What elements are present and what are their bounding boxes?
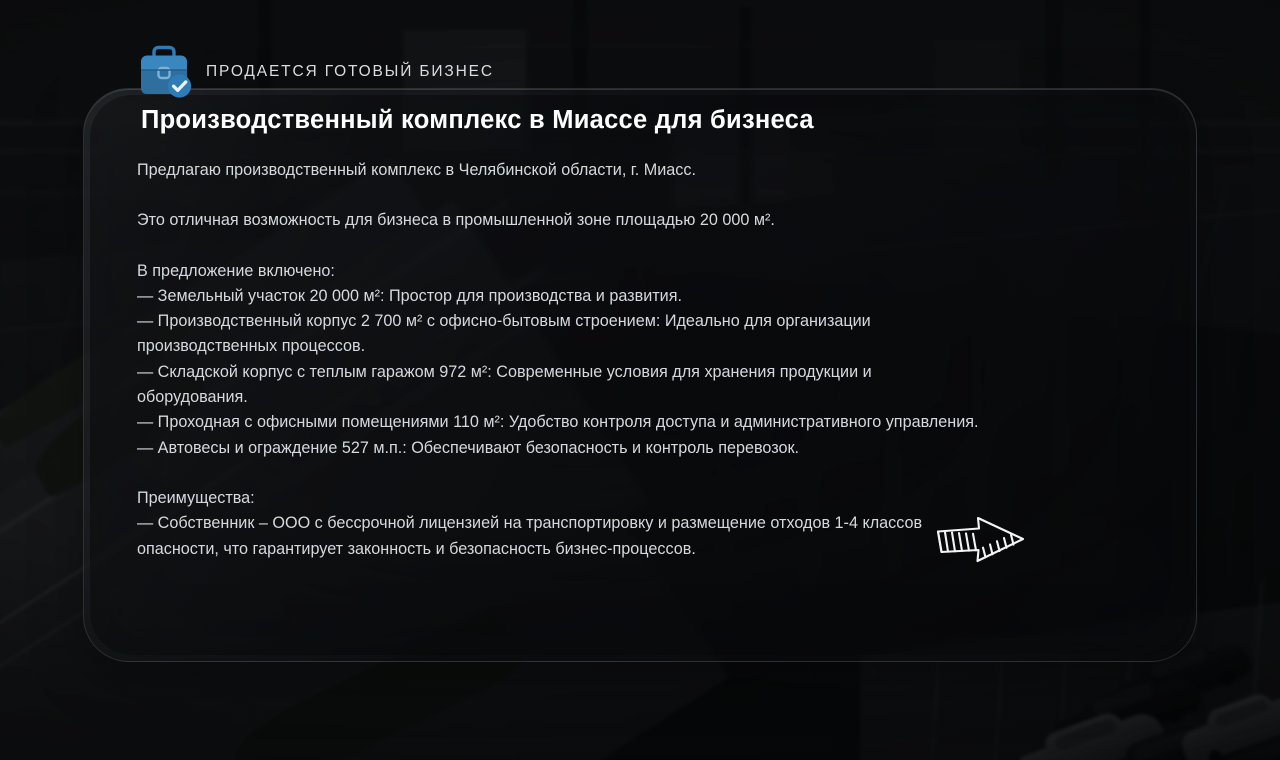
highlight-paragraph: Это отличная возможность для бизнеса в п… — [137, 208, 982, 233]
advantages-item: — Собственник – ООО с бессрочной лицензи… — [137, 511, 982, 562]
hand-drawn-right-arrow-icon — [933, 514, 1029, 566]
eyebrow-row: ПРОДАЕТСЯ ГОТОВЫЙ БИЗНЕС — [131, 44, 1068, 100]
included-item: — Проходная с офисными помещениями 110 м… — [137, 410, 982, 435]
paragraph-spacer — [137, 234, 982, 259]
intro-paragraph: Предлагаю производственный комплекс в Че… — [137, 158, 982, 183]
paragraph-spacer — [137, 461, 982, 486]
briefcase-check-icon — [133, 42, 195, 100]
eyebrow-label: ПРОДАЕТСЯ ГОТОВЫЙ БИЗНЕС — [206, 63, 494, 81]
advantages-heading: Преимущества: — [137, 486, 982, 511]
slide-canvas: ПРОДАЕТСЯ ГОТОВЫЙ БИЗНЕС Производственны… — [0, 0, 1280, 760]
included-item: — Земельный участок 20 000 м²: Простор д… — [137, 284, 982, 309]
included-item: — Производственный корпус 2 700 м² с офи… — [137, 309, 982, 360]
paragraph-spacer — [137, 183, 982, 208]
included-item: — Автовесы и ограждение 527 м.п.: Обеспе… — [137, 436, 982, 461]
included-heading: В предложение включено: — [137, 259, 982, 284]
body-copy: Предлагаю производственный комплекс в Че… — [137, 158, 982, 562]
included-item: — Складской корпус с теплым гаражом 972 … — [137, 360, 982, 411]
page-title: Производственный комплекс в Миассе для б… — [141, 106, 1068, 135]
